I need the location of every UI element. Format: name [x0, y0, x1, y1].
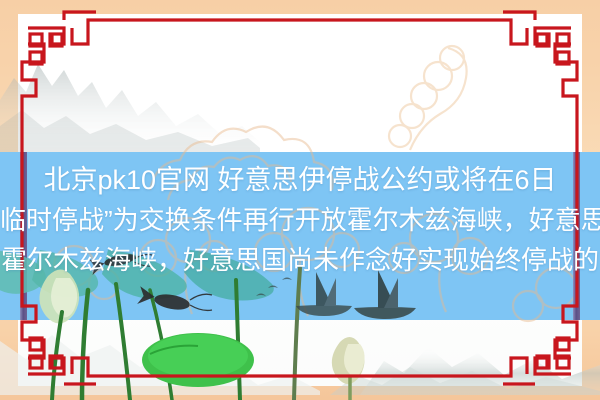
fret-corner-top-left: [22, 12, 120, 112]
headline-text-block: 北京pk10官网 好意思伊停战公约或将在6日 临时停战”为交换条件再行开放霍尔木…: [0, 160, 600, 280]
banner-image: 北京pk10官网 好意思伊停战公约或将在6日 临时停战”为交换条件再行开放霍尔木…: [0, 0, 600, 400]
fret-corner-bottom-right: [486, 290, 577, 384]
headline-line-3: 霍尔木兹海峡，好意思国尚未作念好实现始终停战的: [0, 240, 600, 280]
headline-line-2: 临时停战”为交换条件再行开放霍尔木兹海峡，好意思: [0, 200, 600, 240]
fret-corner-top-right: [478, 12, 577, 112]
headline-line-1: 北京pk10官网 好意思伊停战公约或将在6日: [0, 160, 600, 200]
fret-corner-bottom-left: [22, 290, 110, 384]
